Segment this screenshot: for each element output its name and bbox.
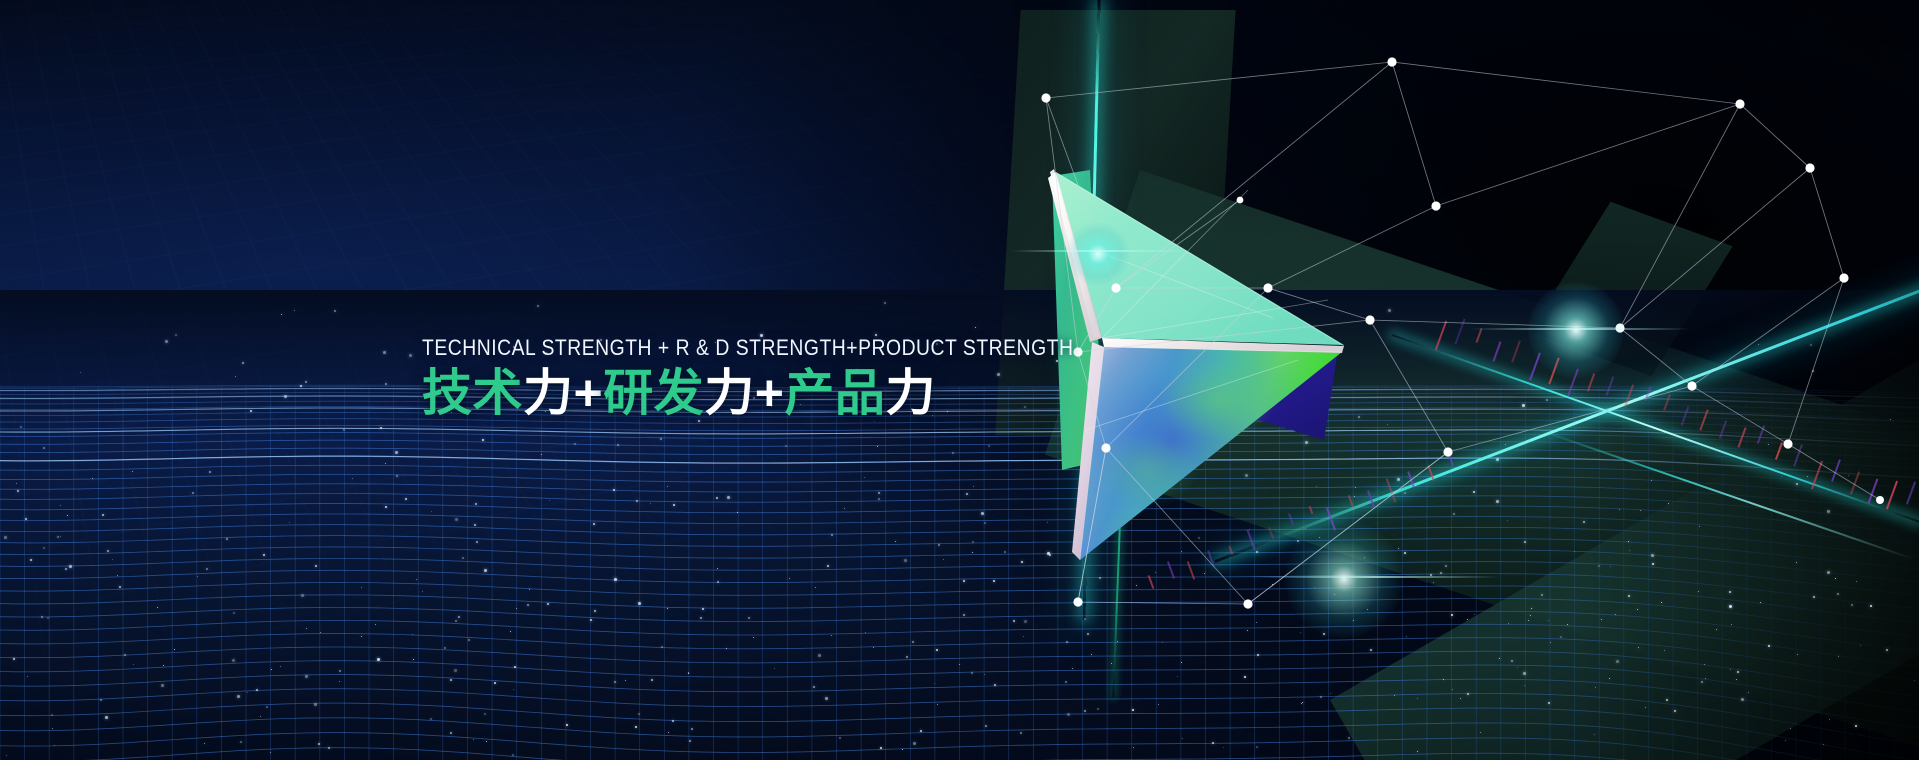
wave-right-fade	[1579, 290, 1919, 760]
headline-chinese-part-6: 产品	[784, 365, 885, 421]
headline-chinese-part-2: +	[574, 365, 604, 421]
headline-chinese-part-3: 研发	[603, 365, 704, 421]
headline-chinese-part-7: 力	[885, 365, 936, 421]
headline-chinese: 技术力+研发力+产品力	[422, 364, 1142, 422]
headline-chinese-part-1: 力	[523, 365, 574, 421]
headline-chinese-part-5: +	[755, 365, 785, 421]
headline-chinese-part-4: 力	[704, 365, 755, 421]
headline-english: TECHNICAL STRENGTH + R & D STRENGTH+PROD…	[422, 335, 1041, 361]
headline-block: TECHNICAL STRENGTH + R & D STRENGTH+PROD…	[422, 335, 1142, 422]
hero-banner: TECHNICAL STRENGTH + R & D STRENGTH+PROD…	[0, 0, 1919, 760]
headline-chinese-part-0: 技术	[422, 365, 523, 421]
